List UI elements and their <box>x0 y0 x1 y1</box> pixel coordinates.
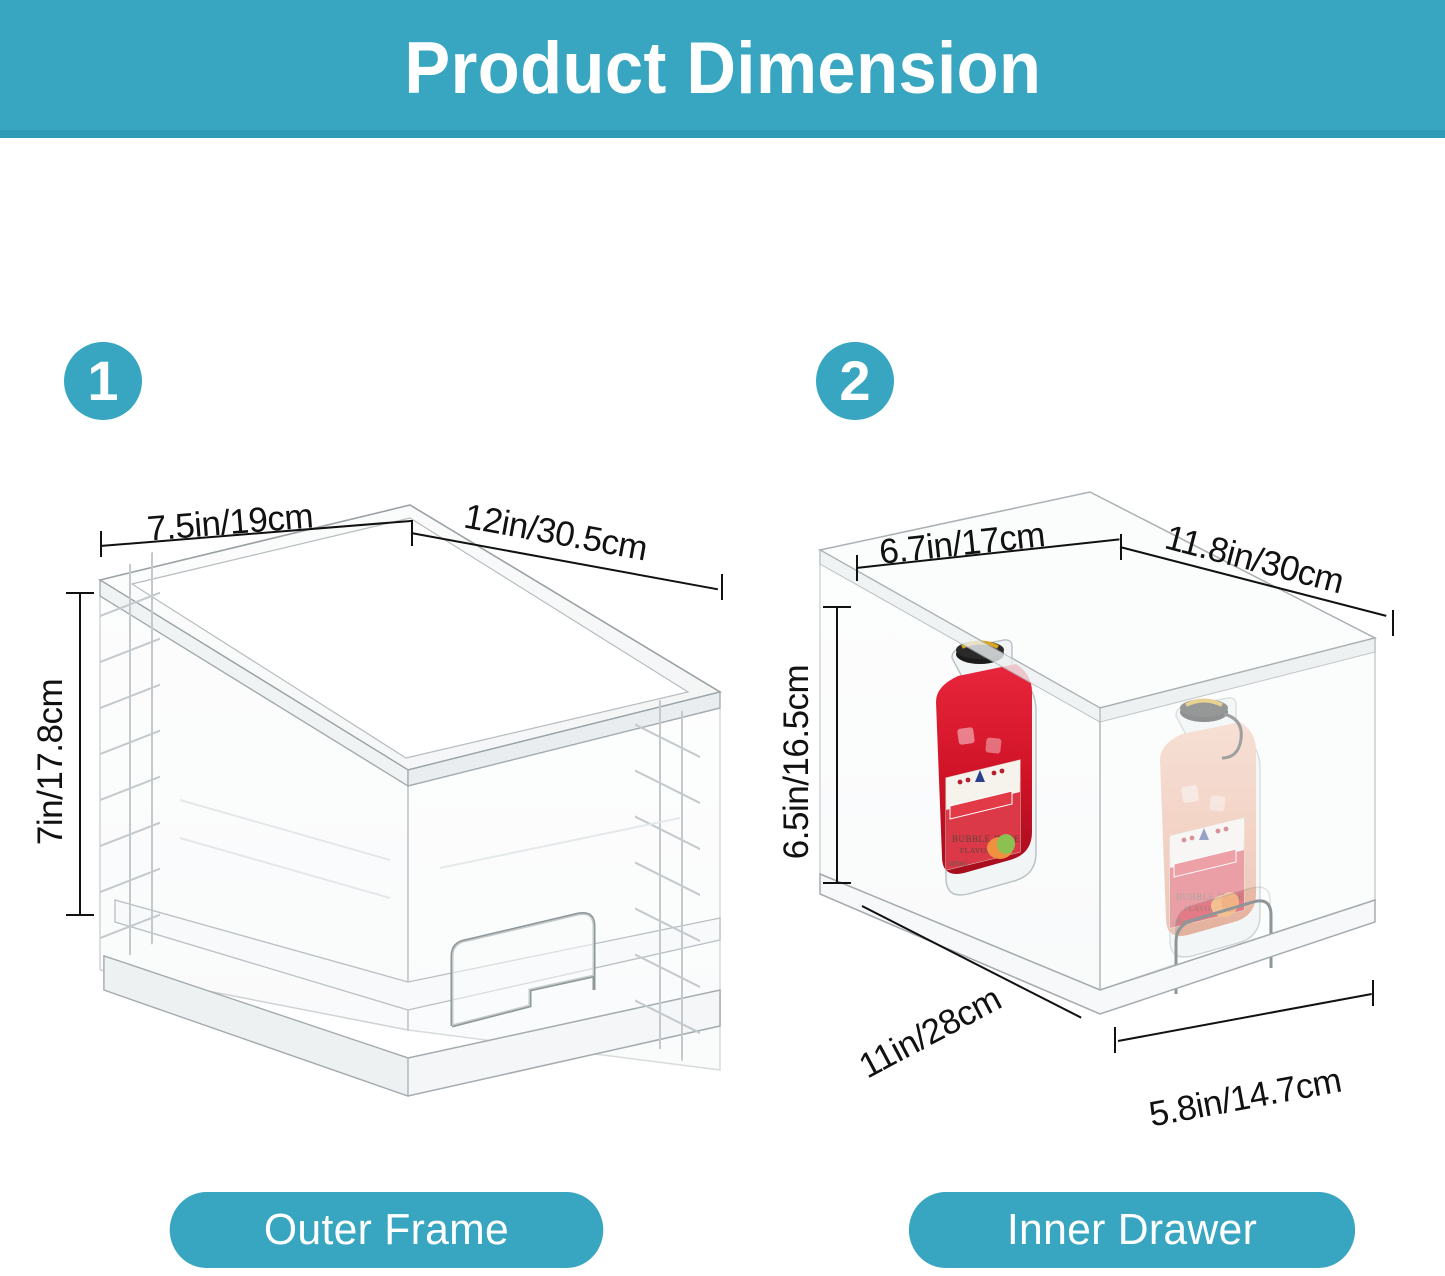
dimension-tick-width-left-start <box>100 531 102 557</box>
bottle-label-red: BUBBLE JUICE FLAVOR 365ml <box>946 760 1020 870</box>
dimension-line-height-left <box>79 592 81 916</box>
dimension-line-height-right <box>836 606 838 884</box>
dimension-height-right: 6.5in/16.5cm <box>777 665 817 859</box>
dimension-tick-depth-left-end <box>721 574 723 600</box>
dimension-tick-front-width-end <box>1372 980 1374 1006</box>
dimension-tick-front-width-start <box>1114 1027 1116 1053</box>
dimension-tick-height-left-top <box>66 592 94 594</box>
caption-outer-frame: Outer Frame <box>170 1192 604 1268</box>
dimension-tick-height-left-bottom <box>66 914 94 916</box>
dimension-tick-depth-right-end <box>1392 610 1394 636</box>
svg-text:365ml: 365ml <box>948 861 968 868</box>
header-underline <box>0 130 1445 138</box>
page-title: Product Dimension <box>404 32 1041 105</box>
product-dimension-infographic: Product Dimension 1 <box>0 0 1445 1276</box>
product-badge-2: 2 <box>816 342 894 420</box>
header-banner: Product Dimension <box>0 0 1445 136</box>
dimension-tick-width-right-start <box>856 555 858 581</box>
caption-inner-drawer: Inner Drawer <box>909 1192 1355 1268</box>
dimension-tick-height-right-top <box>823 606 851 608</box>
dimension-tick-height-right-bottom <box>823 882 851 884</box>
dimension-height-left: 7in/17.8cm <box>31 679 71 845</box>
product-badge-1: 1 <box>64 342 142 420</box>
outer-frame-illustration <box>60 470 760 1130</box>
